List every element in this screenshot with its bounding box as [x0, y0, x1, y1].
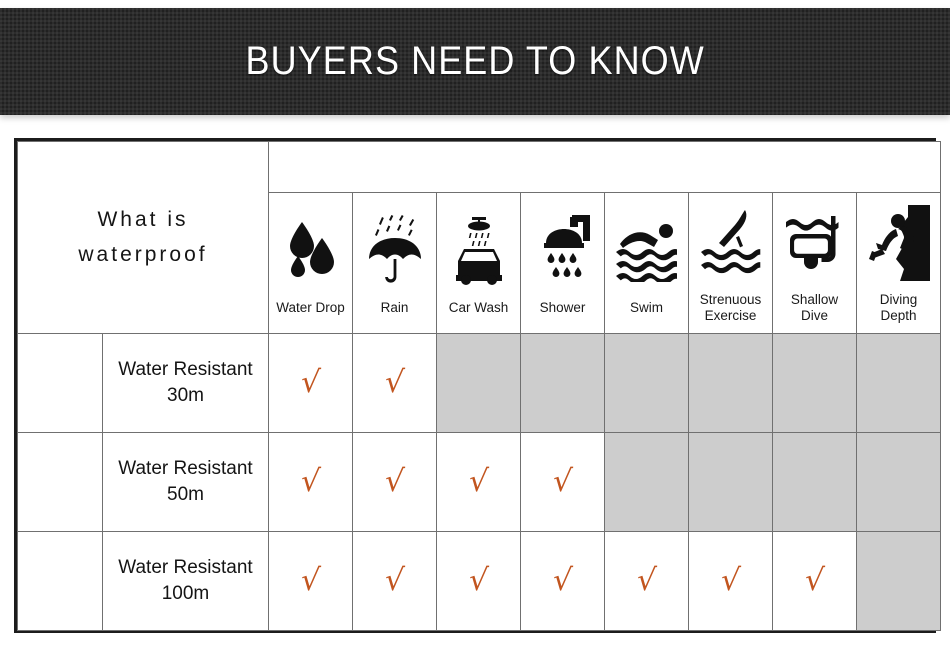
cell-r2-c0: √ — [269, 532, 353, 631]
check-mark-icon: √ — [300, 566, 321, 596]
snorkel-mask-icon — [773, 202, 856, 284]
shower-icon — [521, 210, 604, 292]
cell-r2-c7 — [857, 532, 941, 631]
rating-description: Water Resistant 100m — [103, 532, 269, 631]
column-header-shower: Shower — [521, 193, 605, 334]
check-mark-icon: √ — [552, 467, 573, 497]
cell-r1-c2: √ — [437, 433, 521, 532]
cell-r1-c5 — [689, 433, 773, 532]
conditions-range-header: Conditions Range — [269, 142, 941, 193]
rating-description-line2: 30m — [103, 383, 268, 409]
check-mark-icon: √ — [636, 566, 657, 596]
table-row: 10ATM Water Resistant 100m √ √ √ √ √ √ √ — [18, 532, 941, 631]
cell-r2-c1: √ — [353, 532, 437, 631]
cell-r0-c4 — [605, 334, 689, 433]
column-label-car-wash: Car Wash — [437, 300, 520, 316]
diver-waves-icon — [689, 202, 772, 284]
column-label-water-drop: Water Drop — [269, 300, 352, 316]
column-label-shallow-dive: ShallowDive — [773, 292, 856, 324]
atm-rating-badge: 10ATM — [18, 532, 103, 631]
atm-rating-badge: 5ATM — [18, 433, 103, 532]
table-row: 3ATM Water Resistant 30m √ √ — [18, 334, 941, 433]
cell-r1-c3: √ — [521, 433, 605, 532]
cell-r0-c1: √ — [353, 334, 437, 433]
rating-description-line2: 50m — [103, 482, 268, 508]
swimmer-icon — [605, 210, 688, 292]
check-mark-icon: √ — [300, 368, 321, 398]
cell-r0-c3 — [521, 334, 605, 433]
column-header-rain: Rain — [353, 193, 437, 334]
page-banner: BUYERS NEED TO KNOW — [0, 8, 950, 115]
check-mark-icon: √ — [384, 467, 405, 497]
rating-description-line1: Water Resistant — [118, 359, 252, 380]
rating-description: Water Resistant 50m — [103, 433, 269, 532]
cell-r0-c7 — [857, 334, 941, 433]
table-row: 5ATM Water Resistant 50m √ √ √ √ — [18, 433, 941, 532]
check-mark-icon: √ — [468, 467, 489, 497]
cell-r1-c1: √ — [353, 433, 437, 532]
check-mark-icon: √ — [552, 566, 573, 596]
atm-rating-badge: 3ATM — [18, 334, 103, 433]
cell-r0-c6 — [773, 334, 857, 433]
cell-r2-c3: √ — [521, 532, 605, 631]
column-label-strenuous-swim: Swim — [605, 300, 688, 316]
cell-r1-c6 — [773, 433, 857, 532]
rating-description: Water Resistant 30m — [103, 334, 269, 433]
check-mark-icon: √ — [384, 566, 405, 596]
check-mark-icon: √ — [384, 368, 405, 398]
rating-description-line1: Water Resistant — [118, 557, 252, 578]
cell-r2-c2: √ — [437, 532, 521, 631]
cell-r2-c6: √ — [773, 532, 857, 631]
check-mark-icon: √ — [720, 566, 741, 596]
column-header-shallow-dive: ShallowDive — [773, 193, 857, 334]
cell-r1-c7 — [857, 433, 941, 532]
waterproof-ratings-table: What is waterproof Conditions Range Wate… — [14, 138, 936, 633]
column-label-strenuous-exercise: StrenuousExercise — [689, 292, 772, 324]
check-mark-icon: √ — [468, 566, 489, 596]
column-header-swim: Swim — [605, 193, 689, 334]
umbrella-rain-icon — [353, 210, 436, 292]
column-label-rain: Rain — [353, 300, 436, 316]
column-header-car-wash: Car Wash — [437, 193, 521, 334]
check-mark-icon: √ — [804, 566, 825, 596]
table-header-band: What is waterproof Conditions Range — [18, 142, 941, 193]
corner-title-line1: What is — [97, 208, 188, 231]
scuba-diver-icon — [857, 202, 940, 284]
column-label-shower: Shower — [521, 300, 604, 316]
cell-r2-c4: √ — [605, 532, 689, 631]
water-drop-icon — [269, 210, 352, 292]
cell-r2-c5: √ — [689, 532, 773, 631]
column-header-water-drop: Water Drop — [269, 193, 353, 334]
rating-description-line2: 100m — [103, 581, 268, 607]
car-wash-icon — [437, 210, 520, 292]
check-mark-icon: √ — [300, 467, 321, 497]
rating-description-line1: Water Resistant — [118, 458, 252, 479]
corner-title-cell: What is waterproof — [18, 142, 269, 334]
cell-r0-c5 — [689, 334, 773, 433]
page-title: BUYERS NEED TO KNOW — [245, 39, 704, 84]
cell-r1-c0: √ — [269, 433, 353, 532]
cell-r0-c0: √ — [269, 334, 353, 433]
column-label-diving-depth: DivingDepth — [857, 292, 940, 324]
column-header-diving-depth: DivingDepth — [857, 193, 941, 334]
corner-title-line2: waterproof — [18, 238, 268, 273]
cell-r1-c4 — [605, 433, 689, 532]
column-header-strenuous-exercise: StrenuousExercise — [689, 193, 773, 334]
cell-r0-c2 — [437, 334, 521, 433]
